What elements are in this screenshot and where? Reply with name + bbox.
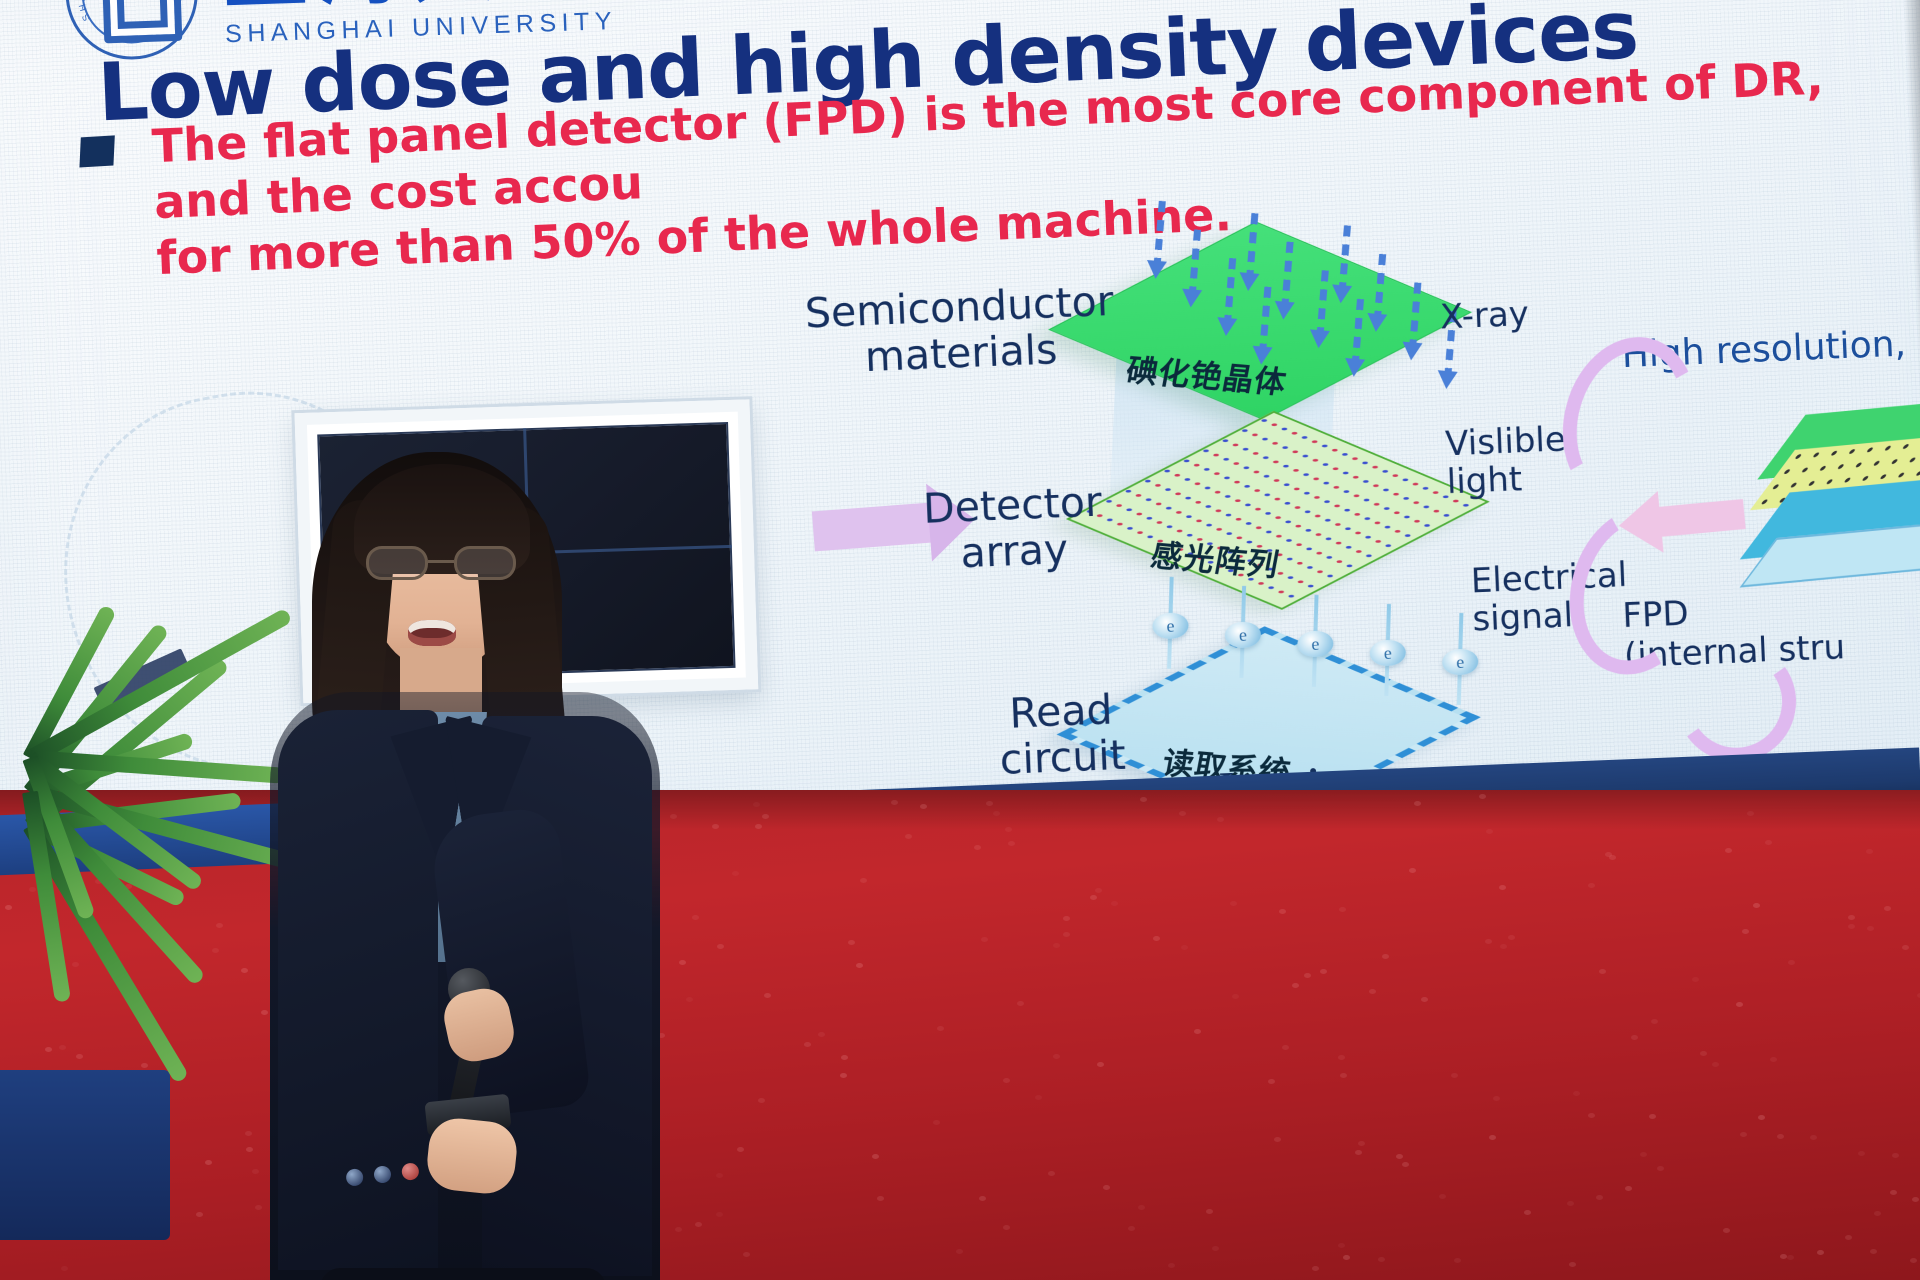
carpet-speck <box>1740 1132 1747 1137</box>
carpet-speck <box>1588 883 1595 888</box>
carpet-speck <box>762 814 769 819</box>
foreground-plant <box>0 600 230 1160</box>
carpet-speck <box>1053 943 1060 948</box>
carpet-speck <box>1567 1201 1574 1206</box>
electron-icon: e <box>1442 648 1479 675</box>
carpet-speck <box>856 963 863 968</box>
carpet-speck <box>1649 1114 1656 1119</box>
carpet-speck <box>1651 1019 1658 1024</box>
carpet-speck <box>716 1212 723 1217</box>
carpet-speck <box>1338 1243 1345 1248</box>
carpet-speck <box>933 1120 940 1125</box>
carpet-speck <box>1870 1249 1877 1254</box>
carpet-speck <box>1770 1057 1777 1062</box>
carpet-speck <box>1282 1045 1289 1050</box>
carpet-speck <box>1179 811 1186 816</box>
carpet-speck <box>1339 907 1346 912</box>
carpet-speck <box>1912 1197 1919 1202</box>
carpet-speck <box>679 960 686 965</box>
carpet-speck <box>1128 1226 1135 1231</box>
carpet-speck <box>1095 888 1102 893</box>
carpet-speck <box>956 1249 963 1254</box>
carpet-speck <box>1867 926 1874 931</box>
carpet-speck <box>979 1196 986 1201</box>
carpet-speck <box>905 834 912 839</box>
carpet-speck <box>1569 1262 1576 1267</box>
carpet-speck <box>1017 1001 1024 1006</box>
carpet-speck <box>1700 1051 1707 1056</box>
carpet-speck <box>716 1173 723 1178</box>
carpet-speck <box>1168 1263 1175 1268</box>
carpet-speck <box>1588 1113 1595 1118</box>
carpet-speck <box>1312 1266 1319 1271</box>
label-semiconductor-materials: Semiconductor materials <box>793 278 1126 383</box>
carpet-speck <box>1402 1162 1409 1167</box>
carpet-speck <box>758 1098 765 1103</box>
carpet-speck <box>877 1196 884 1201</box>
carpet-speck <box>241 968 248 973</box>
carpet-speck <box>1063 932 1070 937</box>
carpet-speck <box>1640 1152 1647 1157</box>
carpet-speck <box>1692 977 1699 982</box>
carpet-speck <box>1181 945 1188 950</box>
carpet-speck <box>1747 811 1754 816</box>
carpet-speck <box>1414 801 1421 806</box>
carpet-speck <box>1723 1228 1730 1233</box>
carpet-speck <box>1631 1035 1638 1040</box>
carpet-speck <box>1304 973 1311 978</box>
mouth <box>408 620 456 646</box>
carpet-speck <box>1596 1195 1603 1200</box>
carpet-speck <box>1858 1151 1865 1156</box>
carpet-speck <box>848 940 855 945</box>
carpet-speck <box>1777 1134 1784 1139</box>
carpet-speck <box>891 800 898 805</box>
carpet-speck <box>686 997 693 1002</box>
carpet-speck <box>1369 989 1376 994</box>
carpet-speck <box>1845 1235 1852 1240</box>
lens-left <box>366 546 428 580</box>
carpet-speck <box>841 1055 848 1060</box>
carpet-speck <box>1206 1209 1213 1214</box>
carpet-speck <box>1810 1135 1817 1140</box>
carpet-speck <box>1508 935 1515 940</box>
photo-scene: SHANGHAI UNIVERSITY 上海大学 SHANGHAI UNIVER… <box>0 0 1920 1280</box>
carpet-speck <box>717 944 724 949</box>
carpet-speck <box>1382 954 1389 959</box>
trousers <box>320 1268 606 1280</box>
carpet-speck <box>670 814 677 819</box>
carpet-speck <box>1524 1210 1531 1215</box>
speaker-person <box>250 430 670 1280</box>
carpet-speck <box>1232 994 1239 999</box>
carpet-speck <box>1486 829 1493 834</box>
hand-holding-clicker <box>424 1116 519 1197</box>
carpet-speck <box>1111 901 1118 906</box>
carpet-speck <box>1048 1171 1055 1176</box>
carpet-speck <box>1874 1211 1881 1216</box>
carpet-speck <box>860 878 867 883</box>
carpet-speck <box>1097 1062 1104 1067</box>
carpet-speck <box>1712 1062 1719 1067</box>
cuff-button <box>373 1165 392 1184</box>
glasses-bridge <box>428 560 454 563</box>
carpet-speck <box>1573 1091 1580 1096</box>
flow-arrow-left-icon <box>1657 499 1745 537</box>
cuff-button <box>345 1168 364 1187</box>
carpet-speck <box>1817 1250 1824 1255</box>
carpet-speck <box>1848 924 1855 929</box>
carpet-speck <box>1451 1073 1458 1078</box>
carpet-speck <box>1003 1078 1010 1083</box>
carpet-speck <box>1890 1190 1897 1195</box>
carpet-speck <box>712 824 719 829</box>
carpet-speck <box>1787 1255 1794 1260</box>
carpet-speck <box>1396 1154 1403 1159</box>
carpet-speck <box>1485 939 1492 944</box>
label-detector-array: Detector array <box>897 479 1131 580</box>
carpet-speck <box>1268 1079 1275 1084</box>
carpet-speck <box>1725 848 1732 853</box>
carpet-speck <box>1320 969 1327 974</box>
carpet-speck <box>1758 1115 1765 1120</box>
carpet-speck <box>1454 1258 1461 1263</box>
carpet-speck <box>692 915 699 920</box>
carpet-speck <box>205 1160 212 1165</box>
carpet-speck <box>1053 1054 1060 1059</box>
carpet-speck <box>818 1032 825 1037</box>
carpet-speck <box>1230 901 1237 906</box>
carpet-speck <box>1138 1205 1145 1210</box>
carpet-speck <box>695 1222 702 1227</box>
carpet-speck <box>1090 895 1097 900</box>
carpet-speck <box>1439 1194 1446 1199</box>
carpet-speck <box>1358 1141 1365 1146</box>
label-read-circuit: Read circuit <box>955 685 1169 785</box>
carpet-speck <box>196 1212 203 1217</box>
carpet-speck <box>1499 885 1506 890</box>
carpet-speck <box>1788 960 1795 965</box>
carpet-speck <box>1005 827 1012 832</box>
carpet-speck <box>1489 1135 1496 1140</box>
carpet-speck <box>61 1266 68 1271</box>
carpet-speck <box>1140 797 1147 802</box>
carpet-speck <box>1063 916 1070 921</box>
carpet-speck <box>993 811 1000 816</box>
label-xray: X-ray <box>1439 292 1610 337</box>
carpet-speck <box>1605 852 1612 857</box>
carpet-speck <box>1343 1255 1350 1260</box>
carpet-speck <box>872 1154 879 1159</box>
carpet-speck <box>1500 944 1507 949</box>
carpet-speck <box>755 824 762 829</box>
carpet-speck <box>764 993 771 998</box>
carpet-speck <box>1765 840 1772 845</box>
cuff-button <box>401 1162 420 1181</box>
carpet-speck <box>1217 817 1224 822</box>
carpet-speck <box>1884 906 1891 911</box>
carpet-speck <box>1212 1246 1219 1251</box>
carpet-speck <box>804 1042 811 1047</box>
carpet-speck <box>743 1252 750 1257</box>
carpet-speck <box>1035 1095 1042 1100</box>
carpet-speck <box>981 937 988 942</box>
carpet-speck <box>1892 1153 1899 1158</box>
carpet-speck <box>920 804 927 809</box>
carpet-speck <box>986 801 993 806</box>
carpet-speck <box>1355 1150 1362 1155</box>
carpet-speck <box>1736 1002 1743 1007</box>
carpet-speck <box>1493 1096 1500 1101</box>
carpet-speck <box>1279 909 1286 914</box>
carpet-speck <box>1625 1186 1632 1191</box>
carpet-speck <box>1103 1185 1110 1190</box>
carpet-speck <box>1742 929 1749 934</box>
carpet-speck <box>737 1147 744 1152</box>
carpet-speck <box>1599 969 1606 974</box>
bullet-square-icon <box>79 135 114 167</box>
carpet-speck <box>675 1227 682 1232</box>
carpet-speck <box>1292 983 1299 988</box>
carpet-speck <box>1003 1225 1010 1230</box>
lens-right <box>454 546 516 580</box>
carpet-speck <box>1657 1166 1664 1171</box>
carpet-speck <box>1753 903 1760 908</box>
carpet-speck <box>1479 794 1486 799</box>
carpet-speck <box>1780 1254 1787 1259</box>
plant-pot <box>0 1070 170 1240</box>
carpet-speck <box>937 1026 944 1031</box>
carpet-speck <box>1378 1257 1385 1262</box>
carpet-speck <box>1421 997 1428 1002</box>
carpet-speck <box>1409 868 1416 873</box>
carpet-speck <box>732 871 739 876</box>
eyeglasses-icon <box>366 546 516 580</box>
carpet-speck <box>1848 915 1855 920</box>
carpet-speck <box>1902 945 1909 950</box>
carpet-speck <box>1866 849 1873 854</box>
carpet-speck <box>1338 1055 1345 1060</box>
carpet-speck <box>1194 1029 1201 1034</box>
carpet-speck <box>1340 1073 1347 1078</box>
carpet-speck <box>1910 1258 1917 1263</box>
carpet-speck <box>1274 1137 1281 1142</box>
carpet-speck <box>753 802 760 807</box>
carpet-speck <box>840 1073 847 1078</box>
carpet-speck <box>1008 841 1015 846</box>
carpet-speck <box>1153 936 1160 941</box>
carpet-speck <box>974 845 981 850</box>
